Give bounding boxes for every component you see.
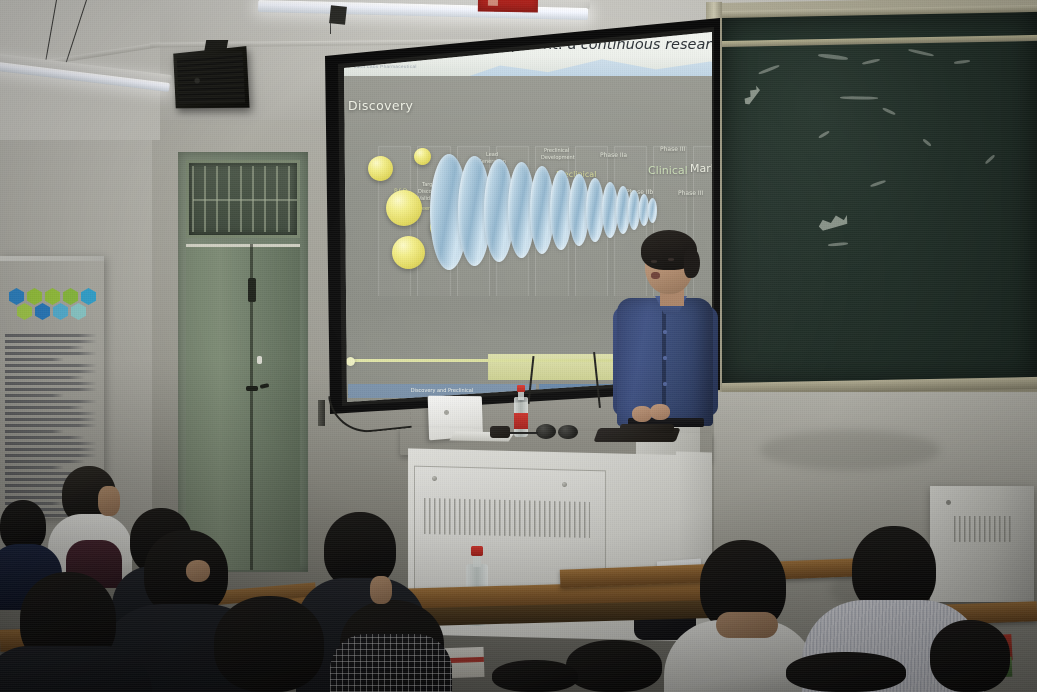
screen-support-pole — [318, 400, 325, 426]
microphone-head — [558, 425, 578, 439]
poster-text-line — [5, 448, 97, 451]
poster-text-line — [5, 412, 97, 415]
poster-text-line — [5, 388, 97, 391]
poster-text-line — [5, 442, 97, 445]
slide-timeline-dot-icon — [346, 357, 355, 366]
lectern-lock-icon[interactable] — [562, 482, 567, 487]
audience-head — [566, 640, 662, 692]
poster-text-line — [5, 394, 64, 397]
poster-text-line — [5, 376, 85, 379]
audience-head — [492, 660, 578, 692]
cabinet-vent — [954, 516, 1012, 542]
desk-equipment — [490, 426, 510, 438]
audience-head — [214, 596, 324, 692]
cabinet-knob-icon[interactable] — [946, 500, 951, 505]
door-keyhole-icon — [257, 356, 262, 364]
audience-hand — [370, 576, 392, 604]
poster-text-line — [5, 346, 85, 349]
poster-text-line — [5, 382, 97, 385]
audience-head — [930, 620, 1010, 692]
poster-text-line — [5, 454, 97, 457]
lectern-vent — [424, 498, 590, 538]
speaker-grille-icon — [177, 52, 245, 104]
microphone-head — [536, 424, 556, 439]
presenter-hair-side — [684, 248, 700, 278]
laptop-logo-icon — [444, 410, 449, 415]
audience-hand — [186, 560, 210, 582]
poster-text-line — [5, 430, 64, 433]
poster-text-line — [5, 400, 97, 403]
poster-text-line — [5, 460, 85, 463]
poster-text-line — [5, 334, 97, 337]
door-transom-window — [186, 160, 300, 238]
window-bar-horizontal — [193, 199, 297, 201]
lectern-lock-icon[interactable] — [432, 476, 437, 481]
audience-head — [786, 652, 906, 692]
poster-text-line — [5, 370, 97, 373]
presenter-mouth — [651, 272, 660, 279]
wall-speaker — [173, 46, 249, 108]
poster-text-line — [5, 418, 97, 421]
desk-equipment — [620, 424, 674, 433]
poster-text-line — [5, 340, 97, 343]
red-banner-fragment — [478, 0, 538, 13]
poster-top-bar — [0, 256, 104, 261]
audience-torso — [0, 646, 152, 692]
blackboard — [722, 11, 1037, 389]
chalk-smudge — [817, 211, 849, 231]
poster-text-line — [5, 406, 85, 409]
poster-text-line — [5, 436, 85, 439]
slide-header-graphic — [458, 52, 720, 76]
poster-text-line — [5, 466, 64, 469]
audience-torso — [330, 634, 452, 692]
door-handle-icon[interactable] — [246, 386, 258, 391]
door-latch-icon[interactable] — [248, 278, 256, 302]
poster-text-line — [5, 358, 64, 361]
poster-text-line — [5, 424, 97, 427]
chalk-smudge — [741, 84, 761, 106]
poster-hexagon-row — [17, 303, 86, 320]
audience-face — [98, 486, 120, 516]
poster-text-line — [5, 364, 97, 367]
audience-neck — [716, 612, 778, 638]
discovery-label: Discovery — [348, 98, 413, 113]
water-bottle-podium — [514, 385, 528, 437]
lecture-hall-photo: JLP Joint Labs Pharmaceutical Drug Devel… — [0, 0, 1037, 692]
presenter-hand — [632, 406, 652, 422]
presenter-hand — [650, 404, 670, 420]
green-double-door[interactable] — [186, 244, 300, 570]
poster-text-line — [5, 352, 97, 355]
